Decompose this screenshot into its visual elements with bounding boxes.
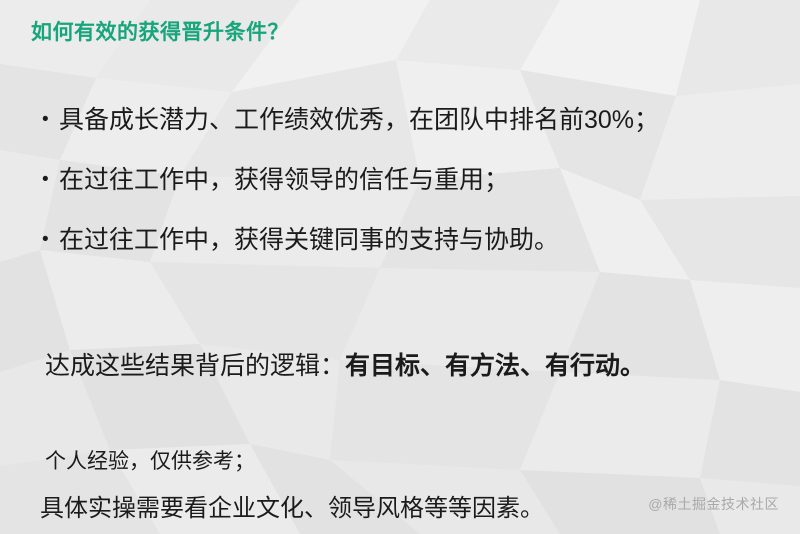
list-item-label: 在过往工作中，获得关键同事的支持与协助。 (59, 221, 559, 259)
footnote-personal-experience: 个人经验，仅供参考； (45, 447, 255, 477)
bullet-dot-icon: • (42, 221, 59, 259)
slide-content: 如何有效的获得晋升条件？ • 具备成长潜力、工作绩效优秀，在团队中排名前30%；… (0, 0, 800, 534)
logic-statement-emphasis: 有目标、有方法、有行动。 (345, 352, 645, 380)
bullet-dot-icon: • (42, 161, 59, 199)
page-title: 如何有效的获得晋升条件？ (31, 20, 289, 45)
list-item-label: 具备成长潜力、工作绩效优秀，在团队中排名前30%； (59, 101, 659, 139)
logic-statement: 达成这些结果背后的逻辑：有目标、有方法、有行动。 (45, 348, 645, 384)
list-item: • 在过往工作中，获得领导的信任与重用； (42, 161, 659, 221)
watermark: @稀土掘金技术社区 (648, 494, 779, 514)
logic-statement-lead: 达成这些结果背后的逻辑： (45, 352, 345, 380)
list-item: • 在过往工作中，获得关键同事的支持与协助。 (42, 221, 659, 281)
slide-canvas: 如何有效的获得晋升条件？ • 具备成长潜力、工作绩效优秀，在团队中排名前30%；… (0, 0, 800, 534)
bullet-dot-icon: • (42, 101, 59, 139)
list-item: • 具备成长潜力、工作绩效优秀，在团队中排名前30%； (42, 101, 659, 161)
footnote-practice-note: 具体实操需要看企业文化、领导风格等等因素。 (40, 493, 544, 525)
list-item-label: 在过往工作中，获得领导的信任与重用； (59, 161, 509, 199)
conditions-bullet-list: • 具备成长潜力、工作绩效优秀，在团队中排名前30%； • 在过往工作中，获得领… (42, 101, 659, 281)
